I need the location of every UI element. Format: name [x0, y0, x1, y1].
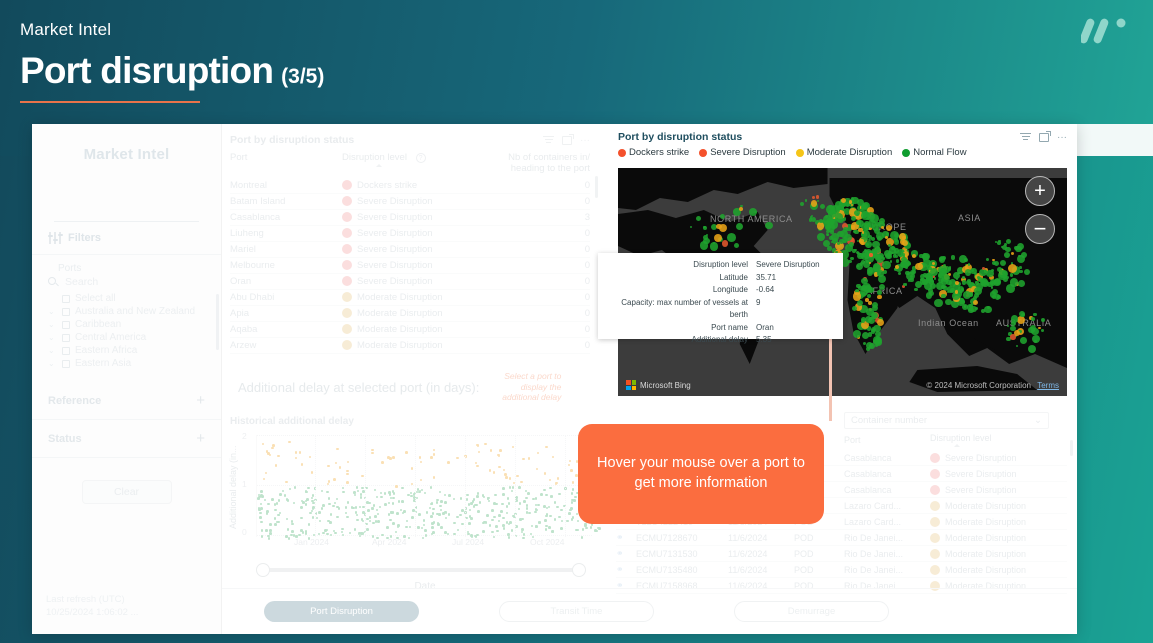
table-row[interactable]: ⚭ECMU713153011/6/2024PODRio De Janei...M… [616, 546, 1067, 562]
data-point [371, 452, 374, 455]
cell-count: 0 [492, 338, 590, 354]
port-marker[interactable] [994, 278, 1001, 285]
port-marker[interactable] [1005, 247, 1010, 252]
data-point [346, 473, 349, 476]
data-point [432, 531, 435, 534]
focus-mode-icon[interactable] [562, 136, 572, 145]
port-marker[interactable] [827, 246, 832, 251]
port-marker[interactable] [956, 278, 958, 280]
cell-port: Mariel [230, 242, 342, 258]
port-marker[interactable] [995, 241, 997, 243]
port-marker[interactable] [871, 329, 876, 334]
port-marker[interactable] [909, 278, 914, 283]
list-item[interactable]: ⌄ Eastern Asia [48, 357, 213, 370]
table-row[interactable]: Abu DhabiModerate Disruption0 [230, 290, 590, 306]
list-item[interactable]: Select all [48, 292, 213, 305]
status-label: Moderate Disruption [945, 501, 1026, 511]
port-marker[interactable] [942, 268, 945, 271]
tab-port-disruption[interactable]: Port Disruption [264, 601, 419, 622]
tab-demurrage[interactable]: Demurrage [734, 601, 889, 622]
port-marker[interactable] [819, 219, 823, 223]
gridline [415, 435, 416, 537]
data-point [418, 491, 421, 494]
data-point [346, 470, 349, 473]
status-label: Moderate Disruption [945, 533, 1026, 543]
column-header-disruption-level[interactable]: Disruption level ? [342, 152, 492, 178]
table-row[interactable]: LiuhengSevere Disruption0 [230, 226, 590, 242]
data-point [417, 526, 420, 529]
data-point [346, 516, 349, 519]
data-point [544, 519, 547, 522]
port-marker[interactable] [851, 225, 855, 229]
column-header-container-count[interactable]: Nb of containers in/ heading to the port [492, 152, 590, 178]
data-point [570, 469, 573, 472]
port-marker[interactable] [968, 263, 971, 266]
scatter-plot[interactable] [256, 435, 592, 537]
port-marker[interactable] [915, 263, 922, 270]
status-dot [342, 292, 352, 302]
data-point [269, 523, 272, 526]
port-marker[interactable] [872, 241, 879, 248]
cell-date: 11/6/2024 [728, 530, 794, 546]
data-point [493, 471, 496, 474]
checkbox[interactable] [62, 334, 70, 342]
legend-item-severe-disruption[interactable]: Severe Disruption [699, 147, 786, 158]
data-point [396, 512, 399, 515]
data-point [366, 528, 369, 531]
data-point [390, 511, 393, 514]
port-marker[interactable] [868, 287, 874, 293]
data-point [274, 509, 277, 512]
data-point [381, 461, 384, 464]
port-marker[interactable] [765, 222, 772, 229]
legend-item-moderate-disruption[interactable]: Moderate Disruption [796, 147, 893, 158]
port-marker[interactable] [734, 243, 739, 248]
list-item[interactable]: ⌄ Central America [48, 331, 213, 344]
gridline [465, 435, 466, 537]
chevron-down-icon[interactable]: ⌄ [1034, 415, 1042, 426]
panel-title: Port by disruption status [618, 131, 742, 143]
cell-port: Arzew [230, 338, 342, 354]
data-point [499, 449, 502, 452]
port-marker[interactable] [1031, 317, 1035, 321]
filter-icon[interactable] [1020, 133, 1031, 141]
filters-header[interactable]: Filters [32, 222, 221, 255]
cell-level: Severe Disruption [342, 242, 492, 258]
data-point [507, 497, 510, 500]
data-point [334, 532, 337, 535]
cell-port: Lazaro Card... [844, 498, 930, 514]
port-marker[interactable] [861, 319, 865, 323]
port-disruption-table-panel: Port by disruption status ··· Port Disru… [222, 124, 602, 366]
data-point [423, 519, 426, 522]
port-marker[interactable] [955, 290, 958, 293]
data-point [509, 486, 512, 489]
link-icon[interactable]: ⚭ [616, 548, 627, 559]
table-row[interactable]: ⚭ECMU712867011/6/2024PODRio De Janei...M… [616, 530, 1067, 546]
data-point [267, 503, 270, 506]
port-marker[interactable] [922, 253, 930, 261]
port-marker[interactable] [903, 255, 905, 257]
port-marker[interactable] [1020, 337, 1027, 344]
port-marker[interactable] [1017, 255, 1026, 264]
data-point [486, 514, 489, 517]
port-marker[interactable] [902, 240, 908, 246]
cell-port: Casablanca [844, 466, 930, 482]
data-point [557, 477, 560, 480]
checkbox[interactable] [62, 308, 70, 316]
legend-label: Moderate Disruption [807, 147, 893, 158]
data-point [380, 492, 383, 495]
data-point [485, 521, 488, 524]
port-marker[interactable] [975, 281, 977, 283]
data-point [279, 493, 282, 496]
data-point [300, 506, 303, 509]
data-point [282, 490, 285, 493]
port-marker[interactable] [1011, 315, 1019, 323]
data-point [407, 494, 410, 497]
cell-count: 0 [492, 178, 590, 194]
port-marker[interactable] [858, 228, 863, 233]
port-marker[interactable] [885, 236, 888, 239]
data-point [291, 523, 294, 526]
map-copyright-text: © 2024 Microsoft Corporation [926, 381, 1031, 390]
chevron-down-icon[interactable]: ⌄ [48, 347, 57, 355]
data-point [356, 514, 359, 517]
table-row[interactable]: MarielSevere Disruption0 [230, 242, 590, 258]
port-marker[interactable] [939, 256, 946, 263]
port-marker[interactable] [941, 294, 946, 299]
data-point [537, 452, 540, 455]
legend-dot [699, 149, 707, 157]
legend-item-normal-flow[interactable]: Normal Flow [902, 147, 966, 158]
status-label: Severe Disruption [945, 469, 1017, 479]
port-marker[interactable] [1019, 270, 1023, 274]
chevron-down-icon[interactable]: ⌄ [48, 321, 57, 329]
data-point [393, 492, 396, 495]
port-marker[interactable] [690, 226, 692, 228]
table-row[interactable]: ⚭ECMU713548011/6/2024PODRio De Janei...M… [616, 562, 1067, 578]
table-row[interactable]: MontrealDockers strike0 [230, 178, 590, 194]
sidebar-section-reference[interactable]: Reference + [32, 382, 221, 420]
data-point [440, 500, 443, 503]
data-point [512, 446, 515, 449]
data-point [357, 490, 360, 493]
data-point [549, 479, 552, 482]
instruction-callout: Hover your mouse over a port to get more… [578, 424, 824, 524]
column-header-disruption-level[interactable]: Disruption level [930, 433, 1067, 450]
filter-icon[interactable] [543, 136, 554, 144]
map-zoom-out-button[interactable]: − [1025, 214, 1055, 244]
x-tick: Oct 2024 [530, 537, 565, 547]
port-marker[interactable] [867, 270, 873, 276]
table-scrollbar[interactable] [595, 176, 598, 198]
data-point [568, 512, 571, 515]
slider-track[interactable] [264, 568, 578, 572]
slider-handle-min[interactable] [256, 563, 270, 577]
data-point [259, 516, 262, 519]
data-point [498, 514, 501, 517]
question-mark-icon[interactable]: ? [416, 153, 426, 163]
data-point [436, 499, 439, 502]
port-marker[interactable] [865, 298, 869, 302]
y-tick: 2 [242, 431, 247, 441]
port-marker[interactable] [856, 251, 859, 254]
data-point [552, 456, 555, 459]
column-header-port[interactable]: Port [844, 433, 930, 450]
port-marker[interactable] [703, 226, 706, 229]
more-options-icon[interactable]: ··· [580, 135, 590, 146]
port-marker[interactable] [817, 222, 824, 229]
data-point [424, 492, 427, 495]
port-marker[interactable] [974, 287, 982, 295]
data-point [260, 521, 263, 524]
port-marker[interactable] [826, 233, 829, 236]
table-row[interactable]: MelbourneSevere Disruption0 [230, 258, 590, 274]
data-point [342, 534, 345, 537]
port-marker[interactable] [1024, 269, 1030, 275]
data-point [453, 522, 456, 525]
data-point [466, 498, 469, 501]
port-marker[interactable] [1041, 329, 1044, 332]
data-point [420, 479, 423, 482]
ports-checkbox-list[interactable]: Select all ⌄ Australia and New Zealand ⌄… [32, 292, 221, 370]
checkbox[interactable] [62, 360, 70, 368]
data-point [384, 492, 387, 495]
focus-mode-icon[interactable] [1039, 133, 1049, 142]
port-marker[interactable] [811, 200, 818, 207]
select-value: Container number [851, 415, 927, 426]
port-marker[interactable] [710, 242, 718, 250]
port-marker[interactable] [999, 270, 1008, 279]
tooltip-key: Port name [604, 322, 756, 335]
cell-level: Severe Disruption [930, 466, 1067, 482]
status-label: Severe Disruption [357, 212, 433, 223]
port-marker[interactable] [925, 273, 932, 280]
column-header-port[interactable]: Port [230, 152, 342, 178]
data-point [442, 512, 445, 515]
port-marker[interactable] [869, 253, 873, 257]
expand-icon[interactable]: + [196, 430, 205, 447]
data-point [302, 501, 305, 504]
port-marker[interactable] [932, 262, 935, 265]
port-marker[interactable] [853, 292, 861, 300]
data-point [456, 457, 459, 460]
more-options-icon[interactable]: ··· [1057, 132, 1067, 143]
port-marker[interactable] [1000, 260, 1006, 266]
cell-level: Severe Disruption [930, 450, 1067, 466]
port-marker[interactable] [867, 212, 875, 220]
data-point [546, 513, 549, 516]
port-marker[interactable] [857, 300, 863, 306]
legend-dot [796, 149, 804, 157]
table-row[interactable]: OranSevere Disruption0 [230, 274, 590, 290]
data-point [362, 532, 365, 535]
clear-filters-button[interactable]: Clear [82, 480, 172, 504]
port-marker[interactable] [843, 227, 848, 232]
port-marker[interactable] [856, 263, 863, 270]
tooltip-value: 5.35 [756, 334, 833, 347]
slider-handle-max[interactable] [572, 563, 586, 577]
link-icon[interactable]: ⚭ [616, 532, 627, 543]
table-row[interactable]: CasablancaSevere Disruption3 [230, 210, 590, 226]
port-marker[interactable] [1018, 280, 1025, 287]
port-marker[interactable] [716, 224, 722, 230]
port-marker[interactable] [861, 278, 867, 284]
legend-item-dockers-strike[interactable]: Dockers strike [618, 147, 689, 158]
port-marker[interactable] [893, 254, 897, 258]
status-dot [342, 308, 352, 318]
port-marker[interactable] [998, 240, 1001, 243]
link-icon[interactable]: ⚭ [616, 564, 627, 575]
cell-level: Moderate Disruption [930, 530, 1067, 546]
chevron-down-icon[interactable]: ⌄ [48, 334, 57, 342]
map-provider-attribution: Microsoft Bing [626, 380, 691, 390]
port-marker[interactable] [851, 216, 856, 221]
cell-port: Casablanca [844, 482, 930, 498]
status-dot [342, 196, 352, 206]
data-point [484, 443, 487, 446]
data-point [545, 494, 548, 497]
data-point [327, 465, 330, 468]
cell-count: 3 [492, 210, 590, 226]
microsoft-logo-icon [626, 380, 636, 390]
port-marker[interactable] [805, 199, 808, 202]
port-marker[interactable] [1019, 266, 1022, 269]
port-marker[interactable] [962, 280, 966, 284]
port-marker[interactable] [861, 285, 867, 291]
sidebar-section-status[interactable]: Status + [32, 420, 221, 458]
table-row[interactable]: AqabaModerate Disruption0 [230, 322, 590, 338]
port-marker[interactable] [873, 264, 881, 272]
data-point [489, 524, 492, 527]
port-marker[interactable] [877, 253, 884, 260]
sort-ascending-icon [954, 444, 960, 447]
checkbox[interactable] [62, 295, 70, 303]
port-marker[interactable] [830, 230, 834, 234]
port-marker[interactable] [829, 236, 833, 240]
port-marker[interactable] [1004, 252, 1010, 258]
data-point [429, 507, 432, 510]
port-marker[interactable] [1006, 284, 1015, 293]
port-marker[interactable] [962, 304, 968, 310]
search-row[interactable] [32, 276, 221, 292]
list-item[interactable]: ⌄ Eastern Africa [48, 344, 213, 357]
date-range-slider[interactable] [256, 563, 586, 577]
panel-tools[interactable]: ··· [1020, 132, 1067, 143]
data-point [508, 502, 511, 505]
data-point [410, 492, 413, 495]
container-table-scrollbar[interactable] [1070, 440, 1073, 456]
data-point [377, 520, 380, 523]
data-point [395, 485, 398, 488]
map-zoom-in-button[interactable]: + [1025, 176, 1055, 206]
port-marker[interactable] [820, 204, 825, 209]
expand-icon[interactable]: + [196, 392, 205, 409]
port-table-body: MontrealDockers strike0 Batam IslandSeve… [230, 178, 590, 354]
port-marker[interactable] [890, 231, 899, 240]
last-refresh: Last refresh (UTC) 10/25/2024 1:06:02 ..… [46, 594, 138, 620]
list-item[interactable]: ⌄ Australia and New Zealand [48, 305, 213, 318]
data-point [342, 487, 345, 490]
port-marker[interactable] [962, 276, 965, 279]
port-marker[interactable] [914, 288, 918, 292]
w-logo-icon [1081, 14, 1131, 48]
legend-label: Severe Disruption [710, 147, 786, 158]
data-point [526, 507, 529, 510]
last-refresh-value: 10/25/2024 1:06:02 ... [46, 607, 138, 620]
cell-port: Rio De Janei... [844, 562, 930, 578]
container-number-select[interactable]: Container number ⌄ [844, 412, 1049, 429]
tooltip-key: Latitude [604, 272, 756, 285]
cell-count: 0 [492, 226, 590, 242]
port-marker[interactable] [890, 260, 892, 262]
table-row[interactable]: Batam IslandSevere Disruption0 [230, 194, 590, 210]
port-marker[interactable] [959, 300, 963, 304]
map-legend: Dockers strike Severe Disruption Moderat… [618, 147, 1067, 158]
port-marker[interactable] [722, 240, 728, 246]
data-point [523, 500, 526, 503]
data-point [545, 528, 548, 531]
data-point [432, 508, 435, 511]
port-marker[interactable] [986, 270, 993, 277]
tab-transit-time[interactable]: Transit Time [499, 601, 654, 622]
data-point [527, 492, 530, 495]
status-dot [342, 324, 352, 334]
search-input[interactable] [65, 276, 205, 288]
data-point [411, 467, 414, 470]
data-point [448, 513, 451, 516]
table-row[interactable]: ArzewModerate Disruption0 [230, 338, 590, 354]
data-point [545, 446, 548, 449]
port-marker[interactable] [800, 202, 804, 206]
port-marker[interactable] [886, 225, 892, 231]
port-marker[interactable] [877, 295, 882, 300]
data-point [535, 525, 538, 528]
data-point [278, 514, 281, 517]
port-marker[interactable] [856, 220, 861, 225]
checkbox[interactable] [62, 347, 70, 355]
data-point [521, 518, 524, 521]
data-point [534, 511, 537, 514]
list-item[interactable]: ⌄ Caribbean [48, 318, 213, 331]
port-marker[interactable] [812, 196, 815, 199]
historical-delay-chart-panel: Historical additional delay Additional d… [222, 408, 602, 588]
port-marker[interactable] [984, 306, 992, 314]
data-point [308, 523, 311, 526]
chevron-down-icon[interactable]: ⌄ [48, 360, 57, 368]
port-marker[interactable] [868, 220, 876, 228]
ports-list-scrollbar[interactable] [216, 294, 219, 350]
port-marker[interactable] [865, 241, 872, 248]
port-marker[interactable] [869, 227, 871, 229]
data-point [269, 532, 272, 535]
data-point [498, 520, 501, 523]
status-label: Severe Disruption [357, 276, 433, 287]
checkbox[interactable] [62, 321, 70, 329]
chevron-down-icon[interactable]: ⌄ [48, 308, 57, 316]
table-row[interactable]: ApiaModerate Disruption0 [230, 306, 590, 322]
data-point [447, 461, 450, 464]
filters-label: Filters [68, 232, 101, 244]
port-marker[interactable] [851, 204, 853, 206]
port-marker[interactable] [929, 279, 934, 284]
map-terms-link[interactable]: Terms [1037, 381, 1059, 390]
port-marker[interactable] [1028, 345, 1036, 353]
port-marker[interactable] [828, 209, 837, 218]
data-point [274, 517, 277, 520]
panel-tools[interactable]: ··· [543, 135, 590, 146]
